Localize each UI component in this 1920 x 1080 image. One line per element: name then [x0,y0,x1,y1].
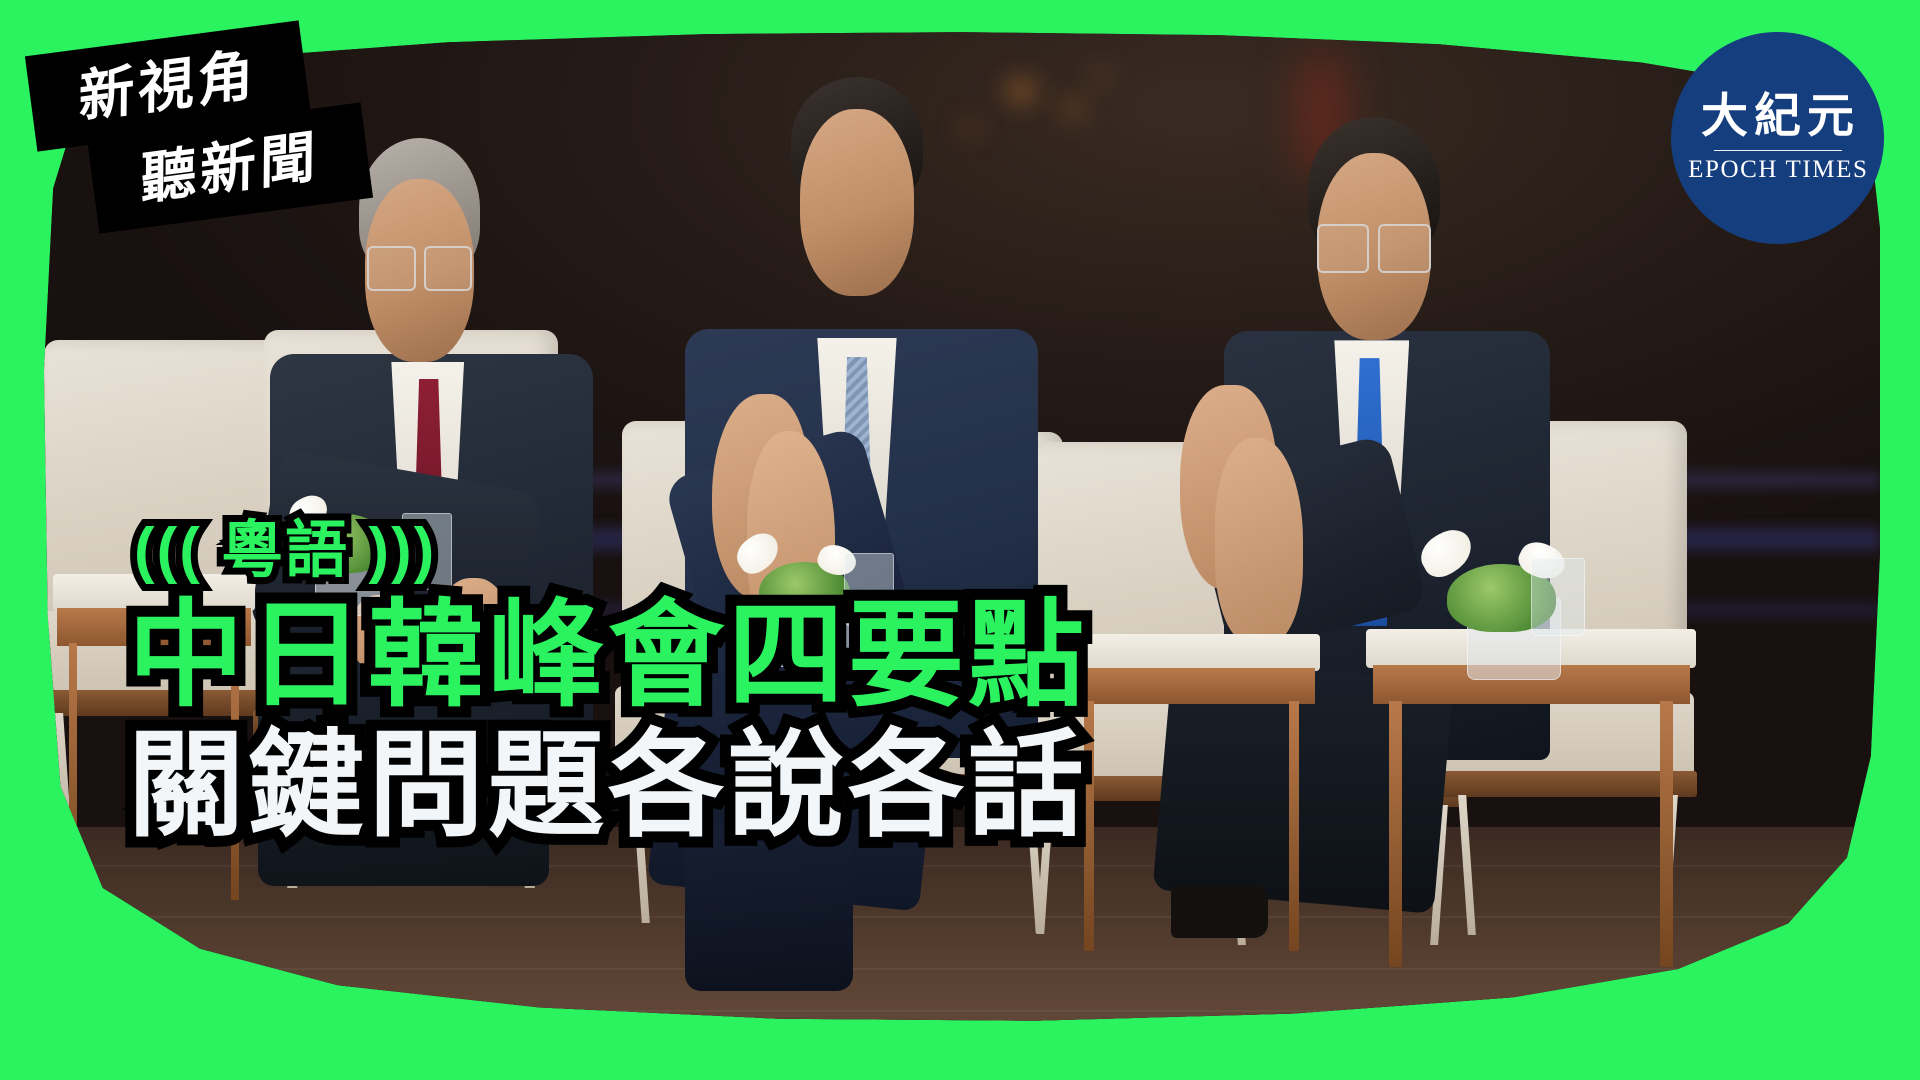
logo-chinese-text: 大紀元 [1695,94,1860,141]
headline-line-2: 關鍵問題各說各話 [128,726,1088,844]
water-glass [1531,558,1584,636]
eyeglasses [367,246,415,292]
headline-block: ((( 粵語 ))) 中日韓峰會四要點 關鍵問題各說各話 [128,520,1088,845]
language-tag-cantonese: ((( 粵語 ))) [128,520,1088,582]
eyeglasses [1378,224,1430,273]
badge-listen-news-label: 聽新聞 [141,128,320,208]
epoch-times-logo[interactable]: 大紀元 EPOCH TIMES [1671,32,1884,244]
face [800,109,915,296]
headline-line-1: 中日韓峰會四要點 [128,596,1088,714]
thumbnail-canvas: 大紀元 EPOCH TIMES 新視角 聽新聞 ((( 粵語 ))) 中日韓峰會… [0,0,1920,1080]
eyeglasses [1317,224,1369,273]
badge-new-perspective-label: 新視角 [79,46,258,126]
backdrop-light [1094,71,1108,81]
logo-english-text: EPOCH TIMES [1687,157,1869,182]
eyeglasses [424,246,472,292]
side-table [1063,634,1320,938]
clapping-hands [1215,438,1303,643]
logo-divider [1714,150,1842,152]
